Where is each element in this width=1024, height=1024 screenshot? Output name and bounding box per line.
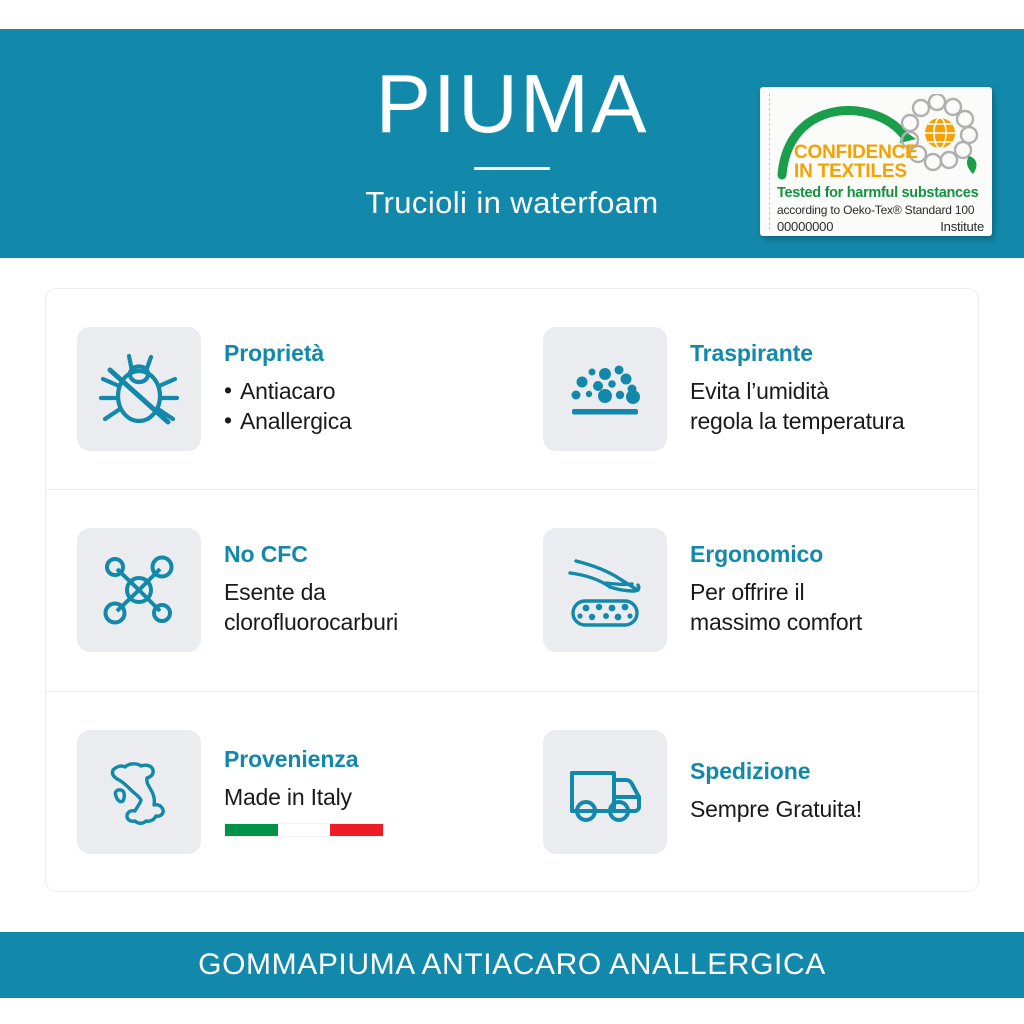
feature-title: Provenienza <box>224 746 384 773</box>
oeko-certificate-number: 00000000 <box>777 219 833 234</box>
infographic-page: PIUMA Trucioli in waterfoam <box>0 0 1024 1024</box>
feature-description: Sempre Gratuita! <box>690 794 862 824</box>
feature-bullet-list: Antiacaro Anallergica <box>224 376 352 437</box>
feature-description: Per offrire il massimo comfort <box>690 577 862 638</box>
feature-title: Ergonomico <box>690 541 862 568</box>
confidence-line-2: IN TEXTILES <box>794 162 918 181</box>
feature-text-block: Traspirante Evita l’umidità regola la te… <box>690 340 904 439</box>
feature-title: Spedizione <box>690 758 862 785</box>
feature-item-traspirante: Traspirante Evita l’umidità regola la te… <box>512 289 978 489</box>
feature-item-proprieta: Proprietà Antiacaro Anallergica <box>46 289 512 489</box>
molecule-icon <box>77 528 201 652</box>
anti-mite-icon <box>77 327 201 451</box>
oeko-institute-text: Institute <box>940 219 984 234</box>
feature-item-no-cfc: No CFC Esente da clorofluorocarburi <box>46 490 512 690</box>
feature-row: No CFC Esente da clorofluorocarburi <box>46 490 978 691</box>
feature-title: Proprietà <box>224 340 352 367</box>
feature-item-ergonomico: Ergonomico Per offrire il massimo comfor… <box>512 490 978 690</box>
flag-stripe-green <box>225 824 278 836</box>
page-subtitle: Trucioli in waterfoam <box>365 186 658 220</box>
feature-description: Esente da clorofluorocarburi <box>224 577 398 638</box>
header-banner: PIUMA Trucioli in waterfoam <box>0 29 1024 258</box>
feature-text-block: Provenienza Made in Italy <box>224 746 384 839</box>
feature-title: Traspirante <box>690 340 904 367</box>
feature-row: Provenienza Made in Italy <box>46 692 978 893</box>
flag-stripe-red <box>330 824 383 836</box>
flag-stripe-white <box>278 824 331 836</box>
feature-row: Proprietà Antiacaro Anallergica <box>46 289 978 490</box>
feature-text-block: Proprietà Antiacaro Anallergica <box>224 340 352 439</box>
feature-text-block: Spedizione Sempre Gratuita! <box>690 758 862 826</box>
feature-description: Evita l’umidità regola la temperatura <box>690 376 904 437</box>
oeko-tex-label: CONFIDENCE IN TEXTILES Tested for harmfu… <box>760 87 992 236</box>
confidence-line-1: CONFIDENCE <box>794 143 918 162</box>
feature-text-block: Ergonomico Per offrire il massimo comfor… <box>690 541 862 640</box>
oeko-standard-text: according to Oeko-Tex® Standard 100 <box>777 203 974 217</box>
feature-item-provenienza: Provenienza Made in Italy <box>46 692 512 893</box>
title-divider-rule <box>474 167 550 170</box>
oeko-confidence-text: CONFIDENCE IN TEXTILES <box>794 143 918 182</box>
feature-description: Made in Italy <box>224 782 384 812</box>
italy-flag-icon <box>224 823 384 837</box>
feature-item-spedizione: Spedizione Sempre Gratuita! <box>512 692 978 893</box>
oeko-label-content: CONFIDENCE IN TEXTILES Tested for harmfu… <box>776 93 986 231</box>
feature-text-block: No CFC Esente da clorofluorocarburi <box>224 541 398 640</box>
hand-on-foam-icon <box>543 528 667 652</box>
feature-title: No CFC <box>224 541 398 568</box>
footer-text: GOMMAPIUMA ANTIACARO ANALLERGICA <box>198 948 826 982</box>
breathable-dots-icon <box>543 327 667 451</box>
list-item: Anallergica <box>224 406 352 437</box>
footer-banner: GOMMAPIUMA ANTIACARO ANALLERGICA <box>0 932 1024 998</box>
features-card: Proprietà Antiacaro Anallergica <box>45 288 979 892</box>
list-item: Antiacaro <box>224 376 352 407</box>
page-title: PIUMA <box>376 62 649 145</box>
delivery-truck-icon <box>543 730 667 854</box>
label-stitch-line <box>769 93 770 230</box>
oeko-tested-text: Tested for harmful substances <box>777 185 978 201</box>
italy-map-icon <box>77 730 201 854</box>
